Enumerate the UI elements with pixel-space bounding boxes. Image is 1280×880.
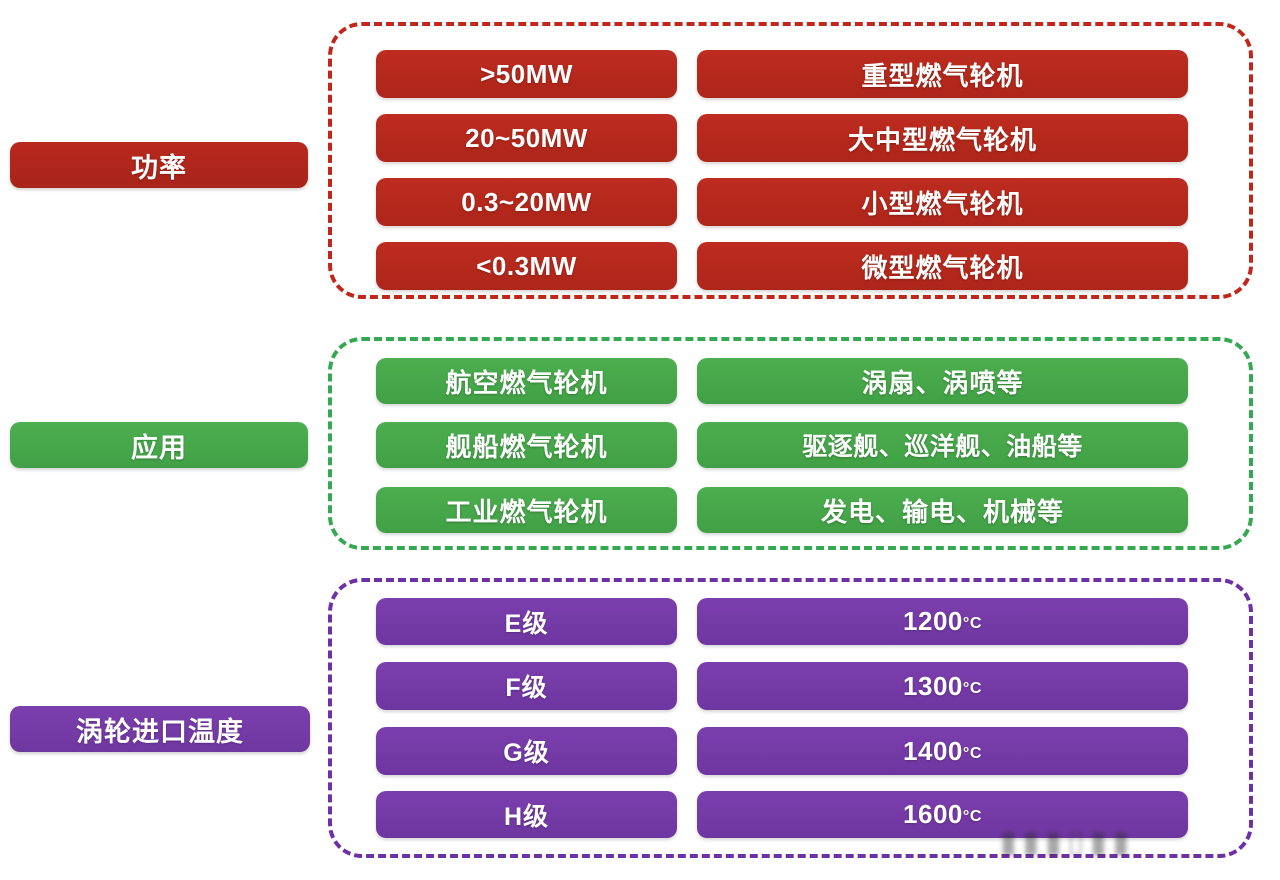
temperature-value-4-group: 1600°C — [903, 799, 982, 830]
temperature-grade-1: E级 — [376, 598, 677, 645]
power-type-4-text: 微型燃气轮机 — [861, 248, 1023, 285]
temperature-value-2-group: 1300°C — [903, 671, 982, 702]
power-type-2-text: 大中型燃气轮机 — [848, 120, 1037, 157]
category-label-turbine-inlet-temperature: 涡轮进口温度 — [10, 706, 310, 752]
temperature-value-1-number: 1200 — [903, 606, 963, 637]
temperature-value-4-number: 1600 — [903, 799, 963, 830]
application-criterion-1-text: 航空燃气轮机 — [445, 363, 607, 400]
application-criterion-2-text: 舰船燃气轮机 — [445, 427, 607, 464]
category-label-application: 应用 — [10, 422, 308, 468]
power-type-3-text: 小型燃气轮机 — [861, 184, 1023, 221]
application-type-1: 涡扇、涡喷等 — [697, 358, 1188, 404]
classification-diagram: 功率 >50MW 重型燃气轮机 20~50MW 大中型燃气轮机 0.3~20MW… — [0, 0, 1280, 880]
temperature-value-2-number: 1300 — [903, 671, 963, 702]
application-type-2-text: 驱逐舰、巡洋舰、油船等 — [802, 427, 1083, 463]
temperature-value-1: 1200°C — [697, 598, 1188, 645]
watermark: ▮▮▮▯▮▮ — [1000, 818, 1260, 866]
power-type-1: 重型燃气轮机 — [697, 50, 1188, 98]
application-criterion-2: 舰船燃气轮机 — [376, 422, 677, 468]
temperature-grade-1-text: E级 — [505, 604, 549, 640]
group-application: 应用 航空燃气轮机 涡扇、涡喷等 舰船燃气轮机 驱逐舰、巡洋舰、油船等 工业燃气… — [0, 330, 1280, 560]
application-type-1-text: 涡扇、涡喷等 — [861, 363, 1023, 400]
temperature-value-1-group: 1200°C — [903, 606, 982, 637]
temperature-grade-4: H级 — [376, 791, 677, 838]
power-criterion-1-text: >50MW — [480, 59, 573, 90]
temperature-value-3: 1400°C — [697, 727, 1188, 775]
power-criterion-4: <0.3MW — [376, 242, 677, 290]
temperature-value-3-number: 1400 — [903, 736, 963, 767]
temperature-grade-4-text: H级 — [504, 797, 549, 833]
application-type-3: 发电、输电、机械等 — [697, 487, 1188, 533]
temperature-value-2: 1300°C — [697, 662, 1188, 710]
power-criterion-1: >50MW — [376, 50, 677, 98]
power-criterion-2: 20~50MW — [376, 114, 677, 162]
category-label-power: 功率 — [10, 142, 308, 188]
temperature-grade-2-text: F级 — [505, 668, 547, 704]
temperature-grade-2: F级 — [376, 662, 677, 710]
power-type-3: 小型燃气轮机 — [697, 178, 1188, 226]
power-type-2: 大中型燃气轮机 — [697, 114, 1188, 162]
application-type-2: 驱逐舰、巡洋舰、油船等 — [697, 422, 1188, 468]
category-label-application-text: 应用 — [131, 426, 187, 465]
power-criterion-3: 0.3~20MW — [376, 178, 677, 226]
application-criterion-3-text: 工业燃气轮机 — [445, 492, 607, 529]
power-criterion-3-text: 0.3~20MW — [461, 187, 591, 218]
application-criterion-3: 工业燃气轮机 — [376, 487, 677, 533]
temperature-grade-3: G级 — [376, 727, 677, 775]
application-type-3-text: 发电、输电、机械等 — [821, 492, 1064, 529]
category-label-power-text: 功率 — [131, 146, 187, 185]
power-criterion-4-text: <0.3MW — [476, 251, 577, 282]
group-power: 功率 >50MW 重型燃气轮机 20~50MW 大中型燃气轮机 0.3~20MW… — [0, 0, 1280, 320]
temperature-value-3-group: 1400°C — [903, 736, 982, 767]
power-criterion-2-text: 20~50MW — [465, 123, 588, 154]
category-label-turbine-inlet-temperature-text: 涡轮进口温度 — [76, 710, 244, 749]
power-type-4: 微型燃气轮机 — [697, 242, 1188, 290]
power-type-1-text: 重型燃气轮机 — [861, 56, 1023, 93]
temperature-grade-3-text: G级 — [503, 733, 549, 769]
application-criterion-1: 航空燃气轮机 — [376, 358, 677, 404]
